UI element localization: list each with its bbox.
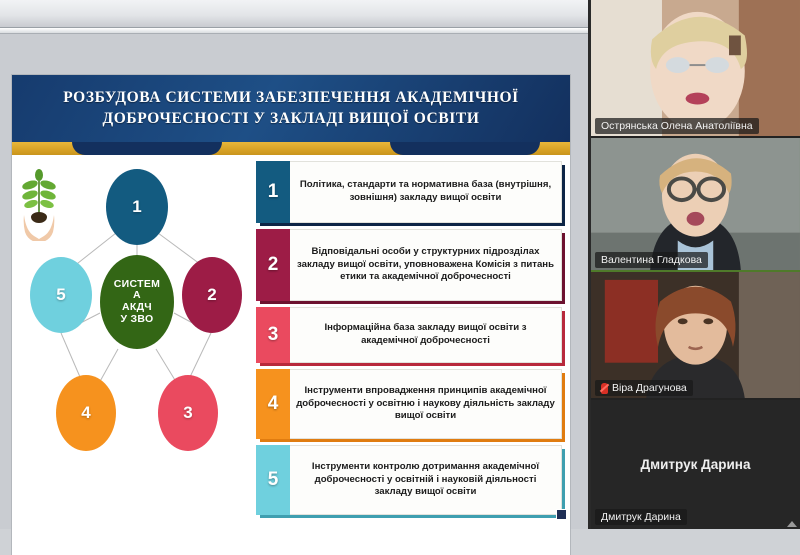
- diagram-node-5-label: 5: [56, 285, 65, 305]
- sprout-in-hands-icon: [18, 163, 60, 241]
- diagram-center-node[interactable]: СИСТЕМ А АКДЧ У ЗВО: [100, 255, 174, 349]
- participant-name-badge: Валентина Гладкова: [595, 252, 708, 268]
- diagram-node-4[interactable]: 4: [56, 375, 116, 451]
- circle-diagram[interactable]: 1 2 3 4 5 СИСТЕМ: [18, 163, 254, 503]
- slide-body: 1 2 3 4 5 СИСТЕМ: [12, 155, 570, 555]
- list-item[interactable]: 1 Політика, стандарти та нормативна база…: [256, 161, 562, 223]
- video-participants-panel[interactable]: Острянська Олена Анатоліївна Валентина Г…: [588, 0, 800, 529]
- participant-tile[interactable]: Острянська Олена Анатоліївна: [591, 0, 800, 138]
- participant-name-badge: Віра Драгунова: [595, 380, 693, 396]
- item-1-text: Політика, стандарти та нормативна база (…: [290, 161, 562, 223]
- scroll-down-icon[interactable]: [787, 521, 797, 527]
- diagram-node-2[interactable]: 2: [182, 257, 242, 333]
- list-item[interactable]: 5 Інструменти контролю дотримання академ…: [256, 445, 562, 515]
- item-2-text: Відповідальні особи у структурних підроз…: [290, 229, 562, 301]
- participant-tile[interactable]: Дмитрук Дарина Дмитрук Дарина: [591, 400, 800, 529]
- center-line-4: У ЗВО: [120, 314, 153, 326]
- presentation-stage: РОЗБУДОВА СИСТЕМИ ЗАБЕЗПЕЧЕННЯ АКАДЕМІЧН…: [0, 34, 588, 529]
- item-1-badge: 1: [256, 161, 290, 223]
- participant-video-1: [591, 0, 800, 136]
- item-4-text: Інструменти впровадження принципів акаде…: [290, 369, 562, 439]
- diagram-node-1[interactable]: 1: [106, 169, 168, 245]
- diagram-node-1-label: 1: [132, 197, 141, 217]
- participant-video-2: [591, 138, 800, 270]
- numbered-items-list: 1 Політика, стандарти та нормативна база…: [256, 161, 562, 553]
- participant-tile[interactable]: Віра Драгунова: [591, 272, 800, 400]
- participant-name: Дмитрук Дарина: [601, 511, 681, 523]
- slide-canvas[interactable]: РОЗБУДОВА СИСТЕМИ ЗАБЕЗПЕЧЕННЯ АКАДЕМІЧН…: [12, 75, 570, 555]
- diagram-node-3-label: 3: [183, 403, 192, 423]
- diagram-node-3[interactable]: 3: [158, 375, 218, 451]
- diagram-node-2-label: 2: [207, 285, 216, 305]
- participant-name: Острянська Олена Анатоліївна: [601, 120, 753, 132]
- list-item[interactable]: 4 Інструменти впровадження принципів ака…: [256, 369, 562, 439]
- title-notch-left: [72, 142, 222, 155]
- item-3-text: Інформаційна база закладу вищої освіти з…: [290, 307, 562, 363]
- title-notch-right: [390, 142, 540, 155]
- item-4-badge: 4: [256, 369, 290, 439]
- item-2-badge: 2: [256, 229, 290, 301]
- slide-title: РОЗБУДОВА СИСТЕМИ ЗАБЕЗПЕЧЕННЯ АКАДЕМІЧН…: [12, 75, 570, 142]
- selection-handle[interactable]: [556, 509, 567, 520]
- participant-name: Валентина Гладкова: [601, 254, 702, 266]
- participant-name-badge: Дмитрук Дарина: [595, 509, 687, 525]
- center-line-3: АКДЧ: [122, 302, 152, 314]
- item-5-badge: 5: [256, 445, 290, 515]
- item-3-badge: 3: [256, 307, 290, 363]
- participant-tile[interactable]: Валентина Гладкова: [591, 138, 800, 272]
- microphone-muted-icon: [601, 383, 608, 394]
- participant-name-badge: Острянська Олена Анатоліївна: [595, 118, 759, 134]
- item-5-text: Інструменти контролю дотримання академіч…: [290, 445, 562, 515]
- list-item[interactable]: 3 Інформаційна база закладу вищої освіти…: [256, 307, 562, 363]
- desktop-root: РОЗБУДОВА СИСТЕМИ ЗАБЕЗПЕЧЕННЯ АКАДЕМІЧН…: [0, 0, 800, 529]
- diagram-node-5[interactable]: 5: [30, 257, 92, 333]
- participant-name: Віра Драгунова: [612, 382, 687, 394]
- diagram-node-4-label: 4: [81, 403, 90, 423]
- list-item[interactable]: 2 Відповідальні особи у структурних підр…: [256, 229, 562, 301]
- app-toolbar[interactable]: [0, 0, 588, 28]
